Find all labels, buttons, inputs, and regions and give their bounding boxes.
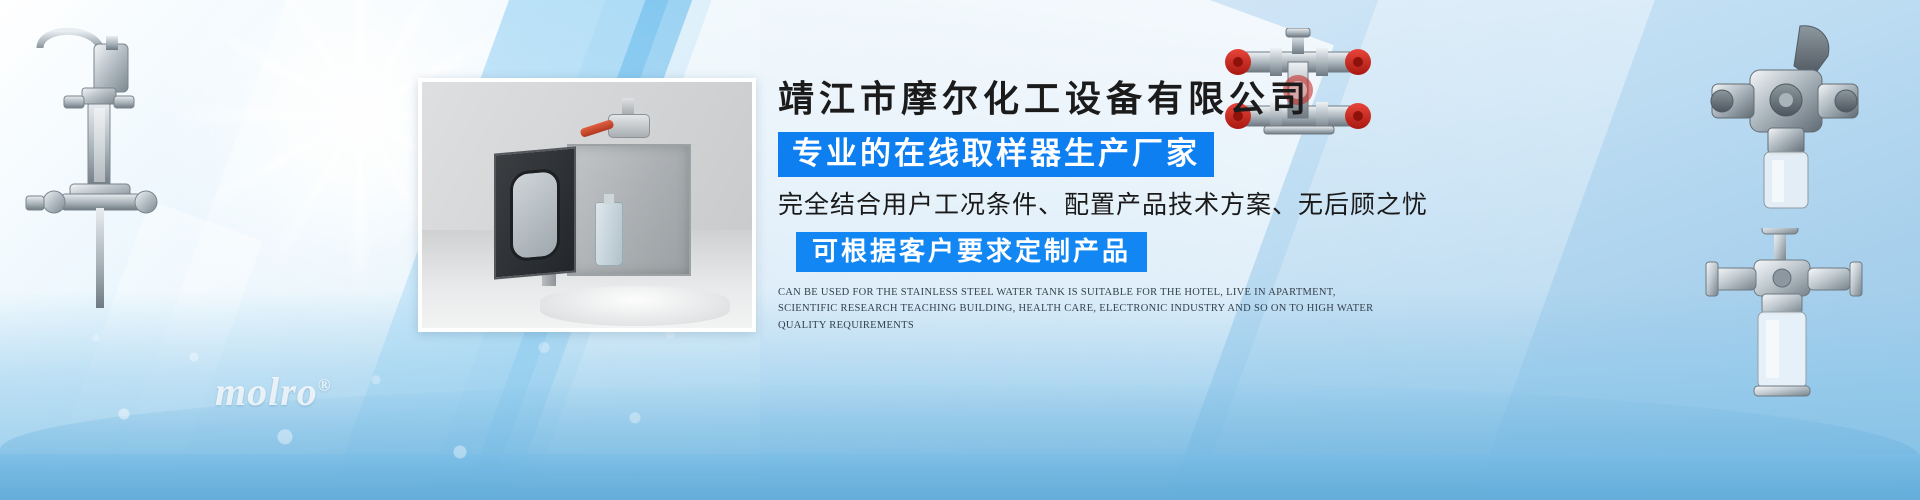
equipment-inline-sampler-valve — [1700, 228, 1870, 418]
equipment-flanged-sampler — [1690, 22, 1870, 222]
watermark-registered-mark: ® — [318, 376, 332, 395]
secondary-badge: 可根据客户要求定制产品 — [796, 232, 1147, 272]
tagline: 完全结合用户工况条件、配置产品技术方案、无后顾之忧 — [778, 190, 1418, 220]
watermark-text: molro — [215, 369, 318, 414]
product-photo-image — [422, 82, 752, 328]
headline-badge: 专业的在线取样器生产厂家 — [778, 132, 1214, 177]
equipment-sampling-probe — [10, 18, 180, 318]
photo-cabinet-door — [494, 146, 576, 279]
photo-cabinet — [567, 144, 691, 276]
photo-sample-bottle — [595, 202, 623, 266]
inline-sampler-valve-icon — [1700, 228, 1870, 418]
banner-text-block: 靖江市摩尔化工设备有限公司 专业的在线取样器生产厂家 完全结合用户工况条件、配置… — [778, 78, 1418, 334]
english-description: CAN BE USED FOR THE STAINLESS STEEL WATE… — [778, 285, 1378, 334]
company-name: 靖江市摩尔化工设备有限公司 — [778, 78, 1418, 121]
flanged-sampler-icon — [1690, 22, 1870, 222]
product-photo — [418, 78, 756, 332]
watermark-logo: molro® — [215, 368, 332, 415]
photo-pedestal — [540, 286, 730, 326]
headline-badge-row: 专业的在线取样器生产厂家 — [778, 132, 1418, 177]
photo-door-window — [510, 168, 560, 262]
photo-valve-body — [608, 114, 650, 138]
promotional-banner: 靖江市摩尔化工设备有限公司 专业的在线取样器生产厂家 完全结合用户工况条件、配置… — [0, 0, 1920, 500]
secondary-badge-row: 可根据客户要求定制产品 — [778, 232, 1418, 272]
photo-valve-head — [590, 100, 664, 152]
sampling-probe-icon — [10, 18, 180, 318]
